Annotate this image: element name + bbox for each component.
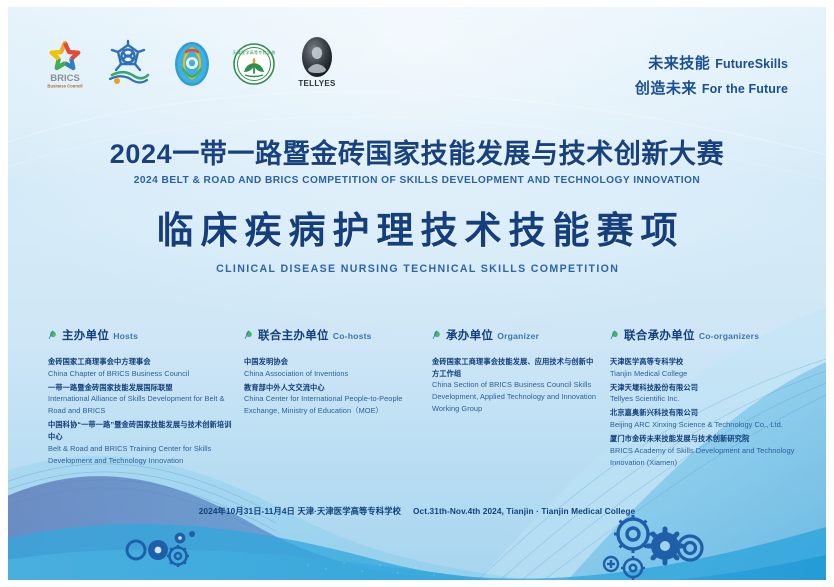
organizer-entry: 教育部中外人文交流中心 China Center for Internation… (244, 382, 420, 418)
logo-skills-alliance (104, 39, 152, 89)
slogan-line-1: 未来技能FutureSkills (635, 52, 788, 77)
organizer-name-cn: 天津天堰科技股份有限公司 (610, 382, 796, 394)
organizer-name-en: Belt & Road and BRICS Training Center fo… (48, 443, 232, 467)
organizer-name-cn: 中国发明协会 (244, 356, 420, 368)
organizer-heading: 联合主办单位 Co-hosts (244, 327, 420, 343)
organizer-name-cn: 教育部中外人文交流中心 (244, 382, 420, 394)
organizer-name-cn: 金砖国家工商理事会中方理事会 (48, 356, 232, 368)
organizer-entry: 金砖国家工商理事会技能发展、应用技术与创新中方工作组 China Section… (432, 356, 598, 415)
main-title-chinese: 2024一带一路暨金砖国家技能发展与技术创新大赛 (8, 139, 826, 170)
organizer-entry: 中国科协“一带一路”暨金砖国家技能发展与技术创新培训中心 Belt & Road… (48, 419, 232, 466)
organizer-heading: 主办单位 Hosts (48, 327, 232, 343)
brics-logo-icon: BRICS Business Council (44, 39, 86, 89)
organizer-column-organizer: 承办单位 Organizer 金砖国家工商理事会技能发展、应用技术与创新中方工作… (432, 327, 610, 417)
organizer-heading-en: Co-hosts (333, 331, 372, 341)
slogan-line-2: 创造未来For the Future (635, 77, 788, 102)
tellyes-logo-label: TELLYES (298, 79, 336, 88)
organizer-name-en: China Association of Inventions (244, 368, 420, 380)
competition-banner: BRICS Business Council (0, 0, 834, 587)
logo-brics-business-council: BRICS Business Council (44, 39, 86, 89)
organizers-section: 主办单位 Hosts 金砖国家工商理事会中方理事会 China Chapter … (48, 327, 796, 471)
slogan-line-1-en: FutureSkills (715, 57, 788, 71)
organizer-heading: 承办单位 Organizer (432, 327, 598, 343)
organizer-name-cn: 北京嘉奥新兴科技有限公司 (610, 407, 796, 419)
logo-international-emblem (170, 39, 214, 89)
organizer-name-en: Beijing ARC Xinxing Science & Technology… (610, 419, 796, 431)
organizer-name-en: China Center for International People-to… (244, 393, 420, 417)
skills-alliance-logo-icon (104, 39, 152, 89)
organizer-entry: 金砖国家工商理事会中方理事会 China Chapter of BRICS Bu… (48, 356, 232, 380)
footer-date-venue-cn: 2024年10月31日-11月4日 天津·天津医学高等专科学校 (199, 506, 401, 516)
organizer-name-cn: 厦门市金砖未来技能发展与技术创新研究院 (610, 433, 796, 445)
organizer-heading-en: Co-organizers (699, 331, 759, 341)
organizer-entry: 一带一路暨金砖国家技能发展国际联盟 International Alliance… (48, 382, 232, 418)
event-title-english: CLINICAL DISEASE NURSING TECHNICAL SKILL… (8, 263, 826, 275)
organizer-heading: 联合承办单位 Co-organizers (610, 327, 796, 343)
event-title-chinese: 临床疾病护理技术技能赛项 (8, 210, 826, 253)
organizer-entry: 天津天堰科技股份有限公司 Tellyes Scientific Inc. (610, 382, 796, 406)
partner-logo-row: BRICS Business Council (44, 35, 340, 89)
tellyes-logo-icon: TELLYES (294, 35, 340, 89)
organizer-heading-en: Hosts (113, 331, 138, 341)
leaf-bullet-icon (432, 330, 441, 339)
leaf-bullet-icon (244, 330, 253, 339)
organizer-name-en: Tellyes Scientific Inc. (610, 393, 796, 405)
organizer-entry: 天津医学高等专科学校 Tianjin Medical College (610, 356, 796, 380)
organizer-column-hosts: 主办单位 Hosts 金砖国家工商理事会中方理事会 China Chapter … (48, 327, 244, 469)
organizer-name-cn: 中国科协“一带一路”暨金砖国家技能发展与技术创新培训中心 (48, 419, 232, 442)
organizer-name-en: BRICS Academy of Skills Development and … (610, 445, 796, 469)
slogan-block: 未来技能FutureSkills 创造未来For the Future (635, 52, 788, 102)
organizer-column-co-hosts: 联合主办单位 Co-hosts 中国发明协会 China Association… (244, 327, 432, 419)
organizer-name-en: Tianjin Medical College (610, 368, 796, 380)
leaf-bullet-icon (48, 330, 57, 339)
brics-logo-sublabel: Business Council (47, 84, 82, 89)
brics-logo-label: BRICS (50, 73, 80, 84)
gears-decoration-right (593, 512, 723, 580)
organizer-name-en: International Alliance of Skills Develop… (48, 393, 232, 417)
organizer-heading-cn: 承办单位 (446, 327, 493, 343)
slogan-line-1-cn: 未来技能 (648, 55, 710, 72)
main-title-english: 2024 BELT & ROAD AND BRICS COMPETITION O… (8, 175, 826, 186)
title-block: 2024一带一路暨金砖国家技能发展与技术创新大赛 2024 BELT & ROA… (8, 139, 826, 275)
leaf-bullet-icon (610, 330, 619, 339)
organizer-name-cn: 天津医学高等专科学校 (610, 356, 796, 368)
organizer-name-cn: 一带一路暨金砖国家技能发展国际联盟 (48, 382, 232, 394)
international-emblem-logo-icon (170, 39, 214, 89)
banner-canvas: BRICS Business Council (8, 7, 826, 580)
organizer-name-en: China Section of BRICS Business Council … (432, 379, 598, 415)
organizer-column-co-organizers: 联合承办单位 Co-organizers 天津医学高等专科学校 Tianjin … (610, 327, 796, 471)
svg-text:天津医学高等专科学校: 天津医学高等专科学校 (233, 49, 276, 55)
organizer-heading-en: Organizer (497, 331, 539, 341)
logo-tianjin-medical-college: 天津医学高等专科学校 (232, 39, 276, 89)
organizer-entry: 北京嘉奥新兴科技有限公司 Beijing ARC Xinxing Science… (610, 407, 796, 431)
gears-decoration-left (118, 512, 218, 580)
slogan-line-2-cn: 创造未来 (635, 80, 697, 97)
organizer-name-cn: 金砖国家工商理事会技能发展、应用技术与创新中方工作组 (432, 356, 598, 379)
organizer-entry: 厦门市金砖未来技能发展与技术创新研究院 BRICS Academy of Ski… (610, 433, 796, 469)
organizer-heading-cn: 联合承办单位 (624, 327, 695, 343)
organizer-entry: 中国发明协会 China Association of Inventions (244, 356, 420, 380)
organizer-heading-cn: 联合主办单位 (258, 327, 329, 343)
slogan-line-2-en: For the Future (702, 82, 788, 96)
organizer-heading-cn: 主办单位 (62, 327, 109, 343)
logo-tellyes: TELLYES (294, 35, 340, 89)
tianjin-medical-college-logo-icon: 天津医学高等专科学校 (232, 39, 276, 89)
organizer-name-en: China Chapter of BRICS Business Council (48, 368, 232, 380)
